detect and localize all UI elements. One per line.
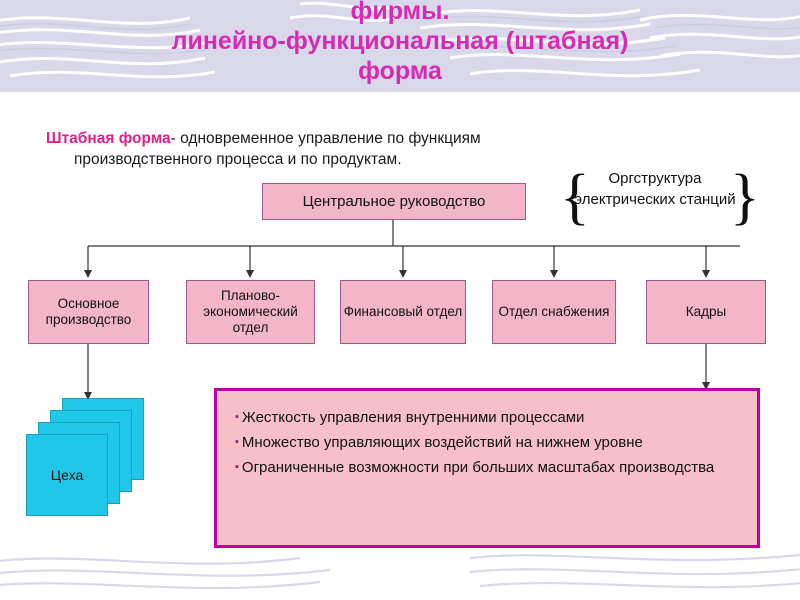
box-label: Кадры <box>686 304 726 320</box>
title-line-3: форма <box>0 56 800 86</box>
box-main-production[interactable]: Основное производство <box>28 280 149 344</box>
org-structure-note: Оргструктура электрических станций <box>566 168 744 236</box>
box-label: Планово-экономический отдел <box>187 288 314 336</box>
box-label: Финансовый отдел <box>344 304 463 320</box>
bullet-text: Жесткость управления внутренними процесс… <box>242 409 585 426</box>
bullet-item: ▪Множество управляющих воздействий на ни… <box>235 430 739 455</box>
bottom-decoration <box>0 548 800 600</box>
box-label: Центральное руководство <box>303 194 486 210</box>
box-central-management[interactable]: Центральное руководство <box>262 183 526 220</box>
bullet-item: ▪Жесткость управления внутренними процес… <box>235 405 739 430</box>
bullet-marker-icon: ▪ <box>235 411 239 423</box>
bullet-item: ▪Ограниченные возможности при больших ма… <box>235 455 739 480</box>
bottom-brush-strokes <box>0 548 800 600</box>
bullet-marker-icon: ▪ <box>235 461 239 473</box>
box-supply-dept[interactable]: Отдел снабжения <box>492 280 616 344</box>
stack-sheet-front[interactable]: Цеха <box>26 434 108 516</box>
intro-rest: - одновременное управление по функциям <box>171 130 481 147</box>
page-title: фирмы. линейно-функциональная (штабная) … <box>0 0 800 86</box>
intro-text: Штабная форма- одновременное управление … <box>46 128 706 170</box>
box-hr[interactable]: Кадры <box>646 280 766 344</box>
stack-label: Цеха <box>51 467 83 483</box>
slide-root: фирмы. линейно-функциональная (штабная) … <box>0 0 800 600</box>
box-label: Основное производство <box>29 296 148 328</box>
title-line-1: фирмы. <box>0 0 800 26</box>
title-banner: фирмы. линейно-функциональная (штабная) … <box>0 0 800 92</box>
intro-highlight: Штабная форма <box>46 130 171 147</box>
title-line-2: линейно-функциональная (штабная) <box>0 26 800 56</box>
stack-workshops[interactable]: Цеха <box>26 398 142 514</box>
box-planning-economic-dept[interactable]: Планово-экономический отдел <box>186 280 315 344</box>
bullet-marker-icon: ▪ <box>235 436 239 448</box>
bullet-text: Множество управляющих воздействий на ниж… <box>242 434 643 451</box>
intro-line-2: производственного процесса и по продукта… <box>74 149 706 170</box>
bullet-text: Ограниченные возможности при больших мас… <box>242 459 714 476</box>
box-label: Отдел снабжения <box>499 304 610 320</box>
box-financial-dept[interactable]: Финансовый отдел <box>340 280 466 344</box>
notes-panel: ▪Жесткость управления внутренними процес… <box>214 388 760 548</box>
